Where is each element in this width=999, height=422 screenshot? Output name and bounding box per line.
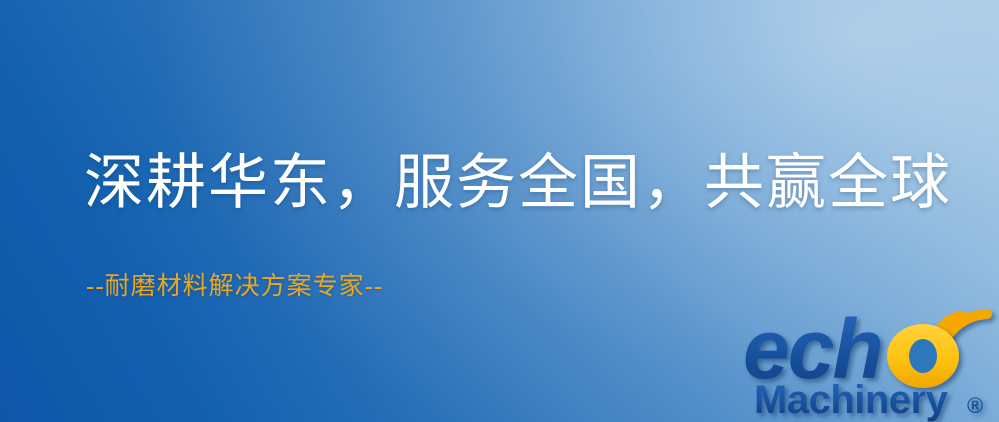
banner-subtitle: --耐磨材料解决方案专家-- <box>86 266 383 302</box>
logo-tagline: Machinery <box>754 378 949 422</box>
banner-headline: 深耕华东，服务全国，共赢全球 <box>84 152 952 215</box>
echo-machinery-logo[interactable]: ech Machinery ® <box>742 296 999 422</box>
hero-banner: 深耕华东，服务全国，共赢全球 --耐磨材料解决方案专家-- <box>0 0 999 422</box>
logo-trademark-symbol: ® <box>967 393 983 418</box>
